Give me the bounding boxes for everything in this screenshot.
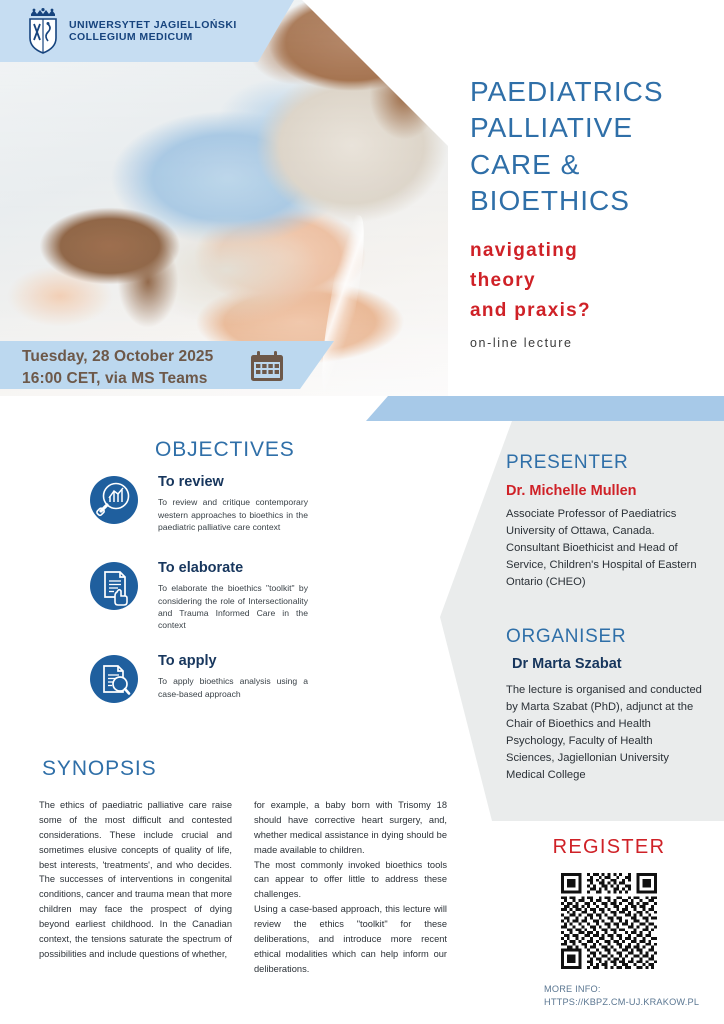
objective-text: To elaborate the bioethics "toolkit" by … (158, 582, 308, 631)
title-line-0: PAEDIATRICS (470, 74, 706, 110)
objectives-heading: OBJECTIVES (155, 438, 295, 462)
presenter-name: Dr. Michelle Mullen (506, 483, 702, 499)
university-crest-icon (26, 8, 60, 54)
event-time: 16:00 CET, via MS Teams (22, 368, 213, 390)
university-logo: UNIWERSYTET JAGIELLOŃSKI COLLEGIUM MEDIC… (26, 8, 237, 54)
objective-title: To elaborate (158, 560, 308, 577)
register-heading: REGISTER (504, 836, 714, 859)
subtitle-line-1: theory (470, 266, 706, 296)
presenter-heading: PRESENTER (506, 452, 702, 474)
objective-title: To review (158, 474, 308, 491)
register-block: REGISTER (504, 836, 714, 1009)
subtitle-line-0: navigating (470, 236, 706, 266)
magnifier-chart-icon (90, 476, 138, 524)
organiser-block: ORGANISER Dr Marta Szabat The lecture is… (506, 626, 702, 784)
lecture-format: on-line lecture (470, 336, 706, 350)
objective-text: To apply bioethics analysis using a case… (158, 675, 308, 699)
calendar-icon (250, 350, 284, 382)
document-magnifier-icon (90, 655, 138, 703)
more-info-label: MORE INFO: (544, 983, 714, 996)
page-title: PAEDIATRICS PALLIATIVE CARE & BIOETHICS (470, 74, 706, 220)
blue-accent-bar (366, 396, 724, 421)
presenter-bio: Associate Professor of Paediatrics Unive… (506, 506, 702, 591)
title-block: PAEDIATRICS PALLIATIVE CARE & BIOETHICS … (470, 74, 706, 350)
document-hand-icon (90, 562, 138, 610)
organiser-name: Dr Marta Szabat (506, 656, 702, 672)
event-datetime: Tuesday, 28 October 2025 16:00 CET, via … (22, 346, 213, 390)
organiser-bio: The lecture is organised and conducted b… (506, 682, 702, 784)
synopsis-heading: SYNOPSIS (42, 757, 157, 781)
synopsis-column-1: The ethics of paediatric palliative care… (39, 798, 232, 977)
presenter-block: PRESENTER Dr. Michelle Mullen Associate … (506, 452, 702, 591)
objective-title: To apply (158, 653, 308, 670)
more-info: MORE INFO: HTTPS://KBPZ.CM-UJ.KRAKOW.PL (504, 983, 714, 1009)
synopsis-columns: The ethics of paediatric palliative care… (39, 798, 447, 977)
synopsis-column-2: for example, a baby born with Trisomy 18… (254, 798, 447, 977)
logo-line-1: UNIWERSYTET JAGIELLOŃSKI (69, 19, 237, 31)
title-line-2: CARE & (470, 147, 706, 183)
synopsis-text-1: The ethics of paediatric palliative care… (39, 798, 232, 962)
title-line-1: PALLIATIVE (470, 110, 706, 146)
qr-code-icon[interactable] (561, 873, 657, 969)
more-info-url[interactable]: HTTPS://KBPZ.CM-UJ.KRAKOW.PL (544, 996, 714, 1009)
organiser-heading: ORGANISER (506, 626, 702, 648)
title-line-3: BIOETHICS (470, 183, 706, 219)
logo-line-2: COLLEGIUM MEDICUM (69, 31, 237, 43)
page-subtitle: navigating theory and praxis? (470, 236, 706, 327)
subtitle-line-2: and praxis? (470, 296, 706, 326)
event-date: Tuesday, 28 October 2025 (22, 346, 213, 368)
synopsis-text-2: for example, a baby born with Trisomy 18… (254, 798, 447, 977)
objective-text: To review and critique contemporary west… (158, 496, 308, 533)
